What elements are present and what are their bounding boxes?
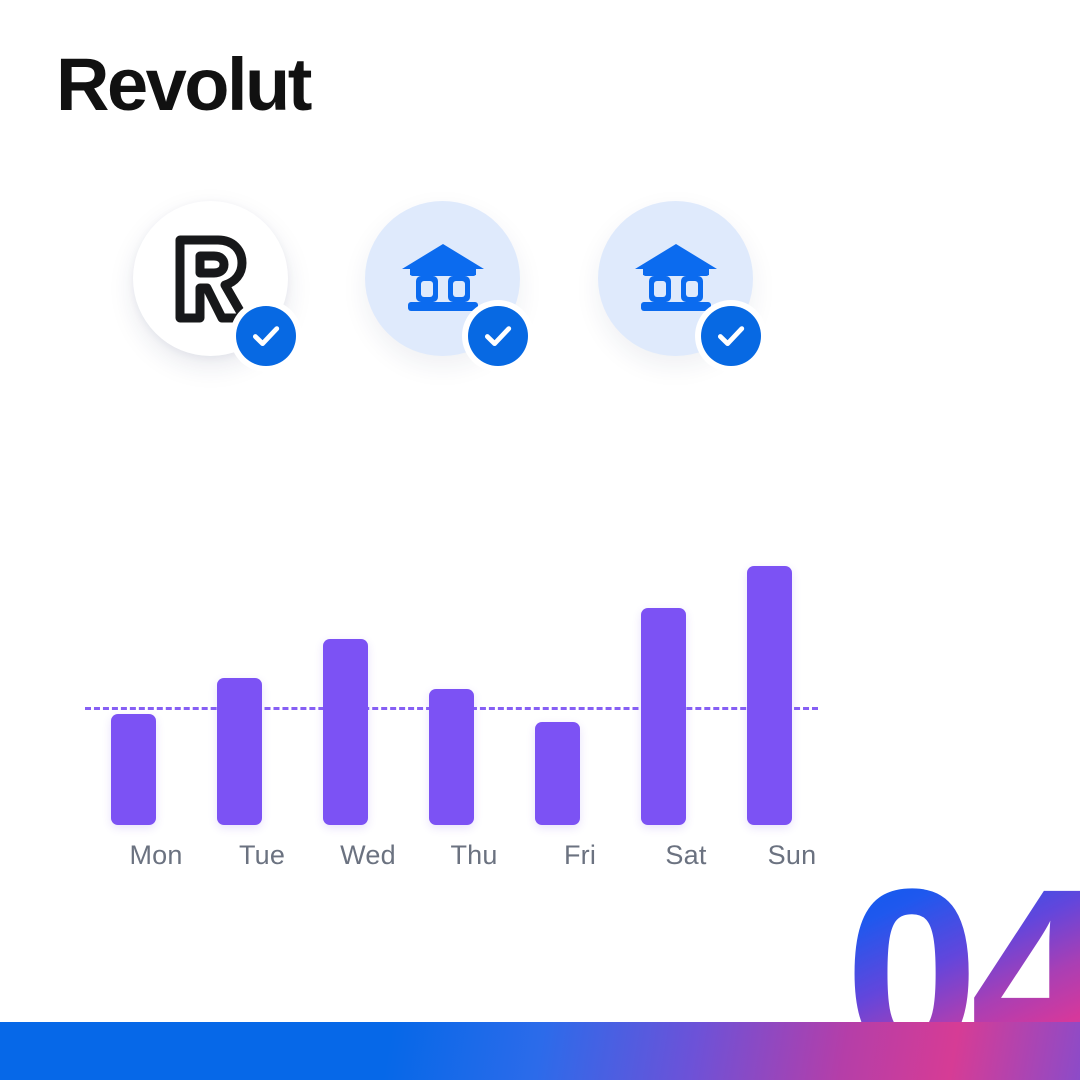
- verified-disc: [468, 306, 528, 366]
- chart-x-label: Mon: [96, 840, 216, 871]
- weekly-spending-bar-chart: [85, 540, 825, 825]
- chart-x-label: Sun: [732, 840, 852, 871]
- chart-bar[interactable]: [111, 714, 156, 825]
- account-item-revolut[interactable]: [133, 201, 288, 356]
- chart-x-label: Fri: [520, 840, 640, 871]
- verified-badge: [230, 300, 302, 372]
- check-icon: [481, 319, 515, 353]
- chart-bar[interactable]: [747, 566, 792, 825]
- chart-bar[interactable]: [535, 722, 580, 825]
- check-icon: [714, 319, 748, 353]
- chart-bar[interactable]: [217, 678, 262, 825]
- chart-bar[interactable]: [323, 639, 368, 825]
- account-item-bank-2[interactable]: [598, 201, 753, 356]
- verified-badge: [462, 300, 534, 372]
- account-item-bank-1[interactable]: [365, 201, 520, 356]
- verified-disc: [236, 306, 296, 366]
- verified-badge: [695, 300, 767, 372]
- average-reference-line: [85, 707, 818, 710]
- bank-icon: [633, 242, 719, 316]
- bottom-gradient-bar: [0, 1022, 1080, 1080]
- chart-x-label: Wed: [308, 840, 428, 871]
- chart-x-axis-labels: MonTueWedThuFriSatSun: [85, 840, 825, 880]
- chart-x-label: Sat: [626, 840, 746, 871]
- check-icon: [249, 319, 283, 353]
- revolut-logo: Revolut: [56, 48, 310, 122]
- slide-canvas: Revolut: [0, 0, 1080, 1080]
- chart-x-label: Thu: [414, 840, 534, 871]
- verified-disc: [701, 306, 761, 366]
- chart-bar[interactable]: [641, 608, 686, 825]
- bank-icon: [400, 242, 486, 316]
- connected-accounts-row: [133, 201, 833, 401]
- chart-x-label: Tue: [202, 840, 322, 871]
